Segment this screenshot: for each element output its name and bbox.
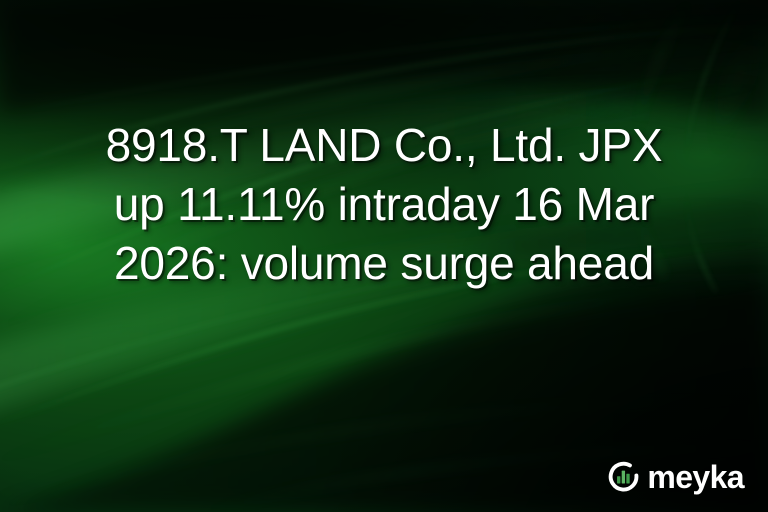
meyka-chart-ring-icon (607, 459, 640, 492)
headline-line-3: 2026: volume surge ahead (34, 234, 734, 293)
headline-line-1: 8918.T LAND Co., Ltd. JPX (34, 116, 734, 175)
meyka-wordmark: meyka (647, 461, 744, 493)
headline-line-2: up 11.11% intraday 16 Mar (34, 175, 734, 234)
meyka-logo: meyka (607, 459, 744, 492)
promo-banner: 8918.T LAND Co., Ltd. JPX up 11.11% intr… (0, 0, 768, 512)
headline: 8918.T LAND Co., Ltd. JPX up 11.11% intr… (0, 116, 768, 293)
